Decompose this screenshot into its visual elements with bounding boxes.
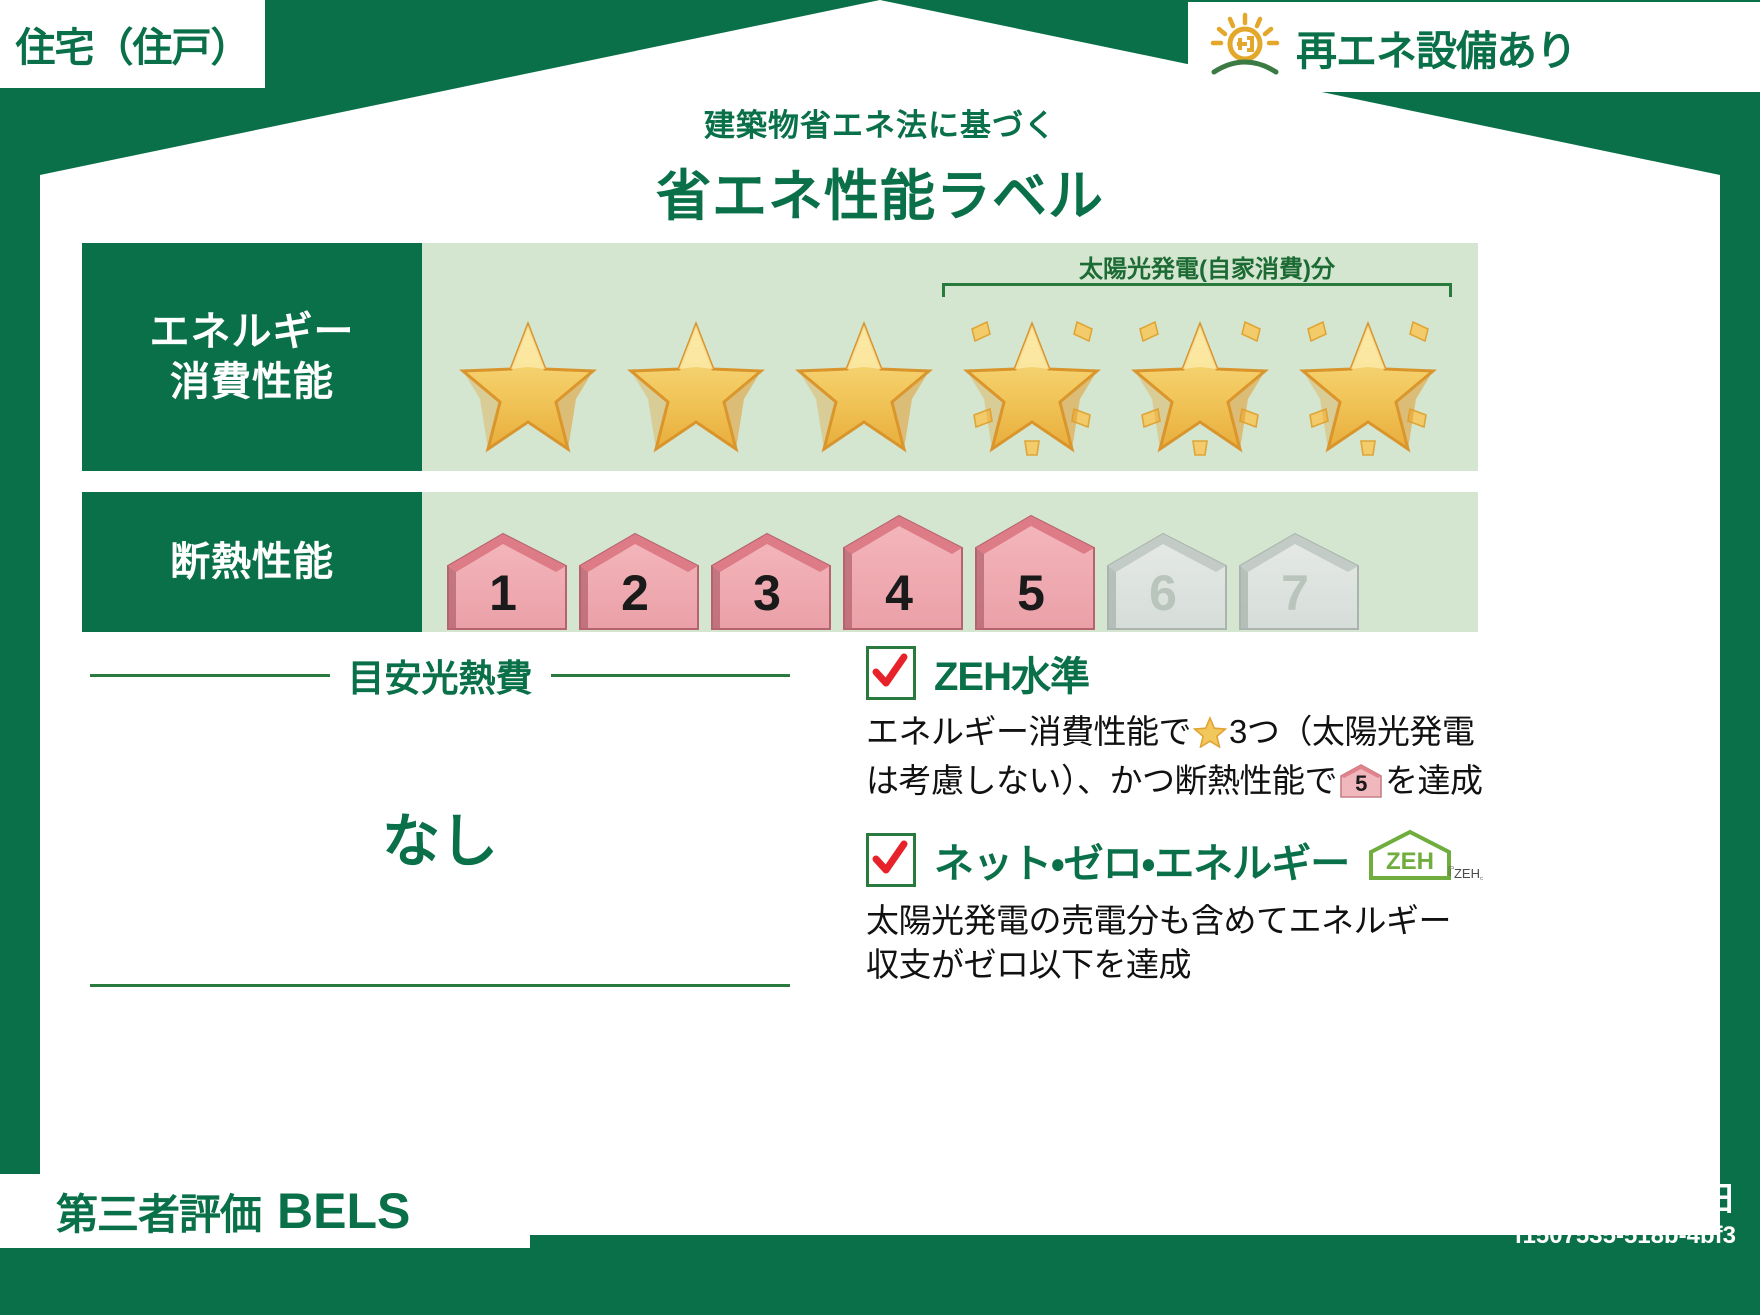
property-address: 東村山市多摩湖町1丁目3棟 2号棟-42075020-0002 [586,1193,1261,1237]
zeh-standard-description: エネルギー消費性能で3つ（太陽光発電 は考慮しない）、かつ断熱性能で5を達成 [866,710,1506,802]
insulation-level-number: 4 [834,564,964,622]
star-icon [1193,715,1227,759]
document-id: f1507535-518b-4bf3 [1515,1222,1736,1250]
utility-cost-heading: 目安光熱費 [90,648,790,702]
star-icon [1116,296,1284,466]
star-rating [422,291,1478,471]
energy-performance-label: エネルギー 消費性能 [82,243,422,471]
insulation-level-4: 4 [834,514,964,632]
insulation-level-6: 6 [1098,532,1228,632]
bels-jp-label: 第三者評価 [56,1181,261,1242]
dwelling-type-badge: 住宅（住戸） [0,0,265,88]
insulation-performance-label: 断熱性能 [82,492,422,632]
solar-annotation: 太陽光発電(自家消費)分 [942,249,1472,284]
footer: 第三者評価 BELS 東村山市多摩湖町1丁目3棟 2号棟-42075020-00… [0,1160,1760,1315]
insulation-level-number: 5 [966,564,1096,622]
net-zero-energy-description: 太陽光発電の売電分も含めてエネルギー 収支がゼロ以下を達成 [866,899,1506,986]
star-icon [444,296,612,466]
insulation-level-7: 7 [1230,532,1360,632]
house-icon: 5 [1340,764,1382,798]
insulation-level-number: 2 [570,564,700,622]
insulation-level-scale: 1 2 3 [422,492,1478,632]
rule-left [90,674,330,677]
zeh-standard-label: ZEH水準 [934,644,1089,702]
evaluation-date: 評価日 2025年12月19日 [1382,1172,1736,1220]
energy-performance-row: エネルギー 消費性能 太陽光発電(自家消費)分 [82,243,1478,471]
title-subtitle: 建築物省エネ法に基づく [0,100,1760,145]
utility-cost-bottom-rule [90,984,790,987]
zeh-logo-icon: ZEH 『ZEH』 [1363,828,1483,891]
zeh-standard-row: ZEH水準 [866,644,1506,702]
net-zero-energy-label: ネット・ゼロ・エネルギー [934,831,1349,889]
zeh-block: ZEH水準 エネルギー消費性能で3つ（太陽光発電 は考慮しない）、かつ断熱性能で… [866,644,1506,1012]
dwelling-type-label: 住宅（住戸） [16,15,250,73]
svg-text:ZEH: ZEH [1386,848,1434,875]
page-title: 建築物省エネ法に基づく 省エネ性能ラベル [0,100,1760,231]
solar-sun-icon [1206,12,1284,83]
bels-badge: 第三者評価 BELS [0,1174,530,1248]
insulation-performance-row: 断熱性能 1 2 [82,492,1478,632]
star-icon [780,296,948,466]
insulation-level-number: 6 [1098,564,1228,622]
insulation-performance-field: 1 2 3 [422,492,1478,632]
utility-cost-block: 目安光熱費 なし [90,648,790,987]
insulation-level-number: 7 [1230,564,1360,622]
utility-cost-value: なし [90,794,790,878]
insulation-level-number: 3 [702,564,832,622]
rule-right [551,674,791,677]
check-icon [866,833,916,887]
renewable-energy-label: 再エネ設備あり [1296,17,1576,77]
energy-performance-field: 太陽光発電(自家消費)分 [422,243,1478,471]
title-main: 省エネ性能ラベル [0,151,1760,231]
utility-cost-title: 目安光熱費 [330,648,551,702]
bels-en-label: BELS [277,1182,410,1240]
check-icon [866,646,916,700]
star-icon [1284,296,1452,466]
insulation-level-1: 1 [438,532,568,632]
renewable-energy-badge: 再エネ設備あり [1188,2,1760,92]
insulation-level-2: 2 [570,532,700,632]
insulation-level-5: 5 [966,514,1096,632]
star-icon [948,296,1116,466]
net-zero-energy-row: ネット・ゼロ・エネルギー ZEH 『ZEH』 [866,828,1506,891]
star-icon [612,296,780,466]
insulation-level-3: 3 [702,532,832,632]
svg-text:『ZEH』: 『ZEH』 [1441,866,1483,881]
insulation-level-number: 1 [438,564,568,622]
